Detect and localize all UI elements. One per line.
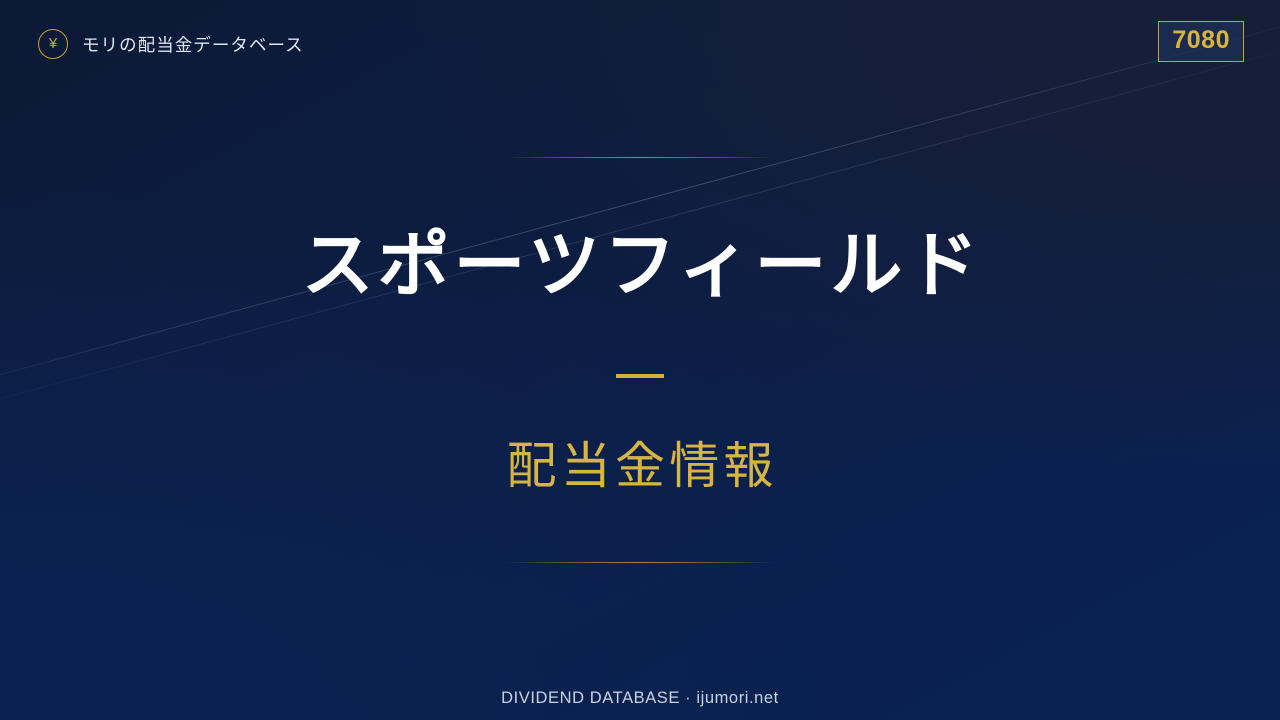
footer-credit: DIVIDEND DATABASE · ijumori.net (0, 689, 1280, 708)
page-subtitle: 配当金情報 (502, 440, 778, 493)
company-name: スポーツフィールド (298, 230, 983, 302)
gold-accent-dash (616, 374, 664, 378)
divider-bottom (506, 562, 774, 563)
title-block: スポーツフィールド 配当金情報 (0, 0, 1280, 720)
presentation-slide: ¥ モリの配当金データベース 7080 スポーツフィールド 配当金情報 DIVI… (0, 0, 1280, 720)
divider-top (506, 157, 774, 158)
